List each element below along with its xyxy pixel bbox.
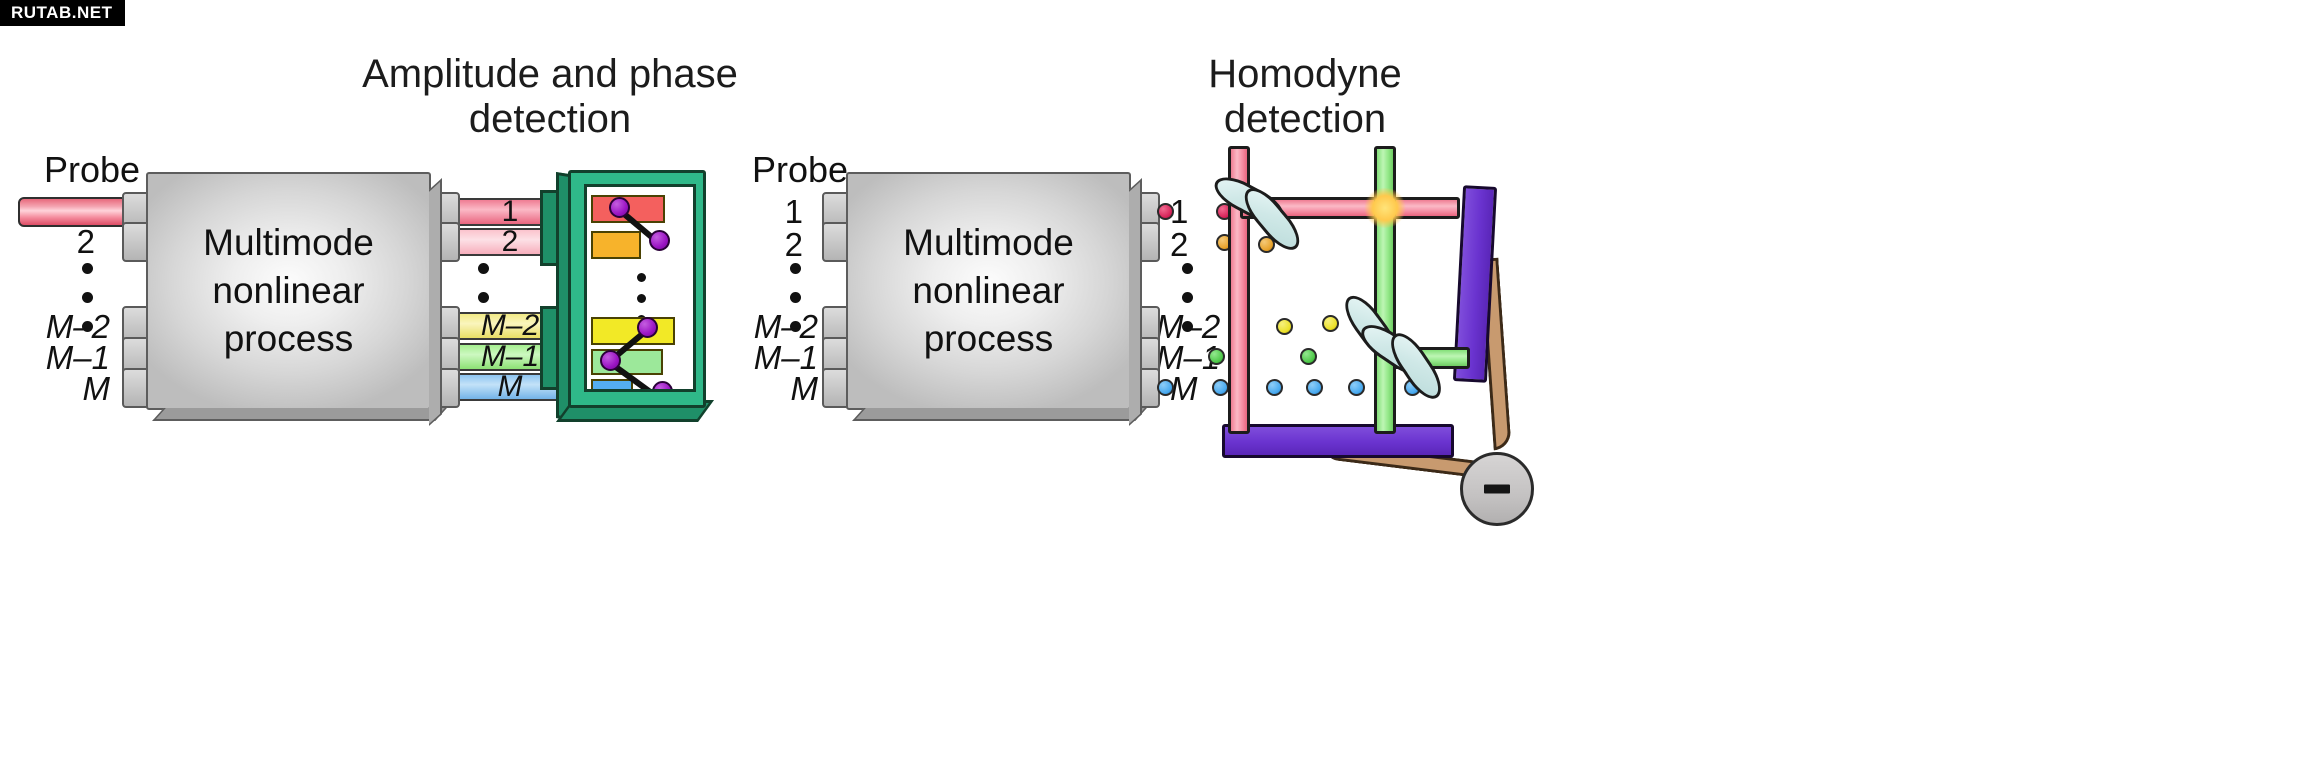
panel-title-amplitude-phase: Amplitude and phase detection: [330, 52, 770, 142]
process-box-right-shadow-bottom: [852, 408, 1147, 421]
right-input-mode-label-1: 1: [748, 195, 803, 228]
mode-dot-M-c: [1306, 379, 1323, 396]
watermark: RUTAB.NET: [0, 0, 125, 26]
subtractor-node[interactable]: [1460, 452, 1534, 526]
port-dot-mode-M: [1157, 379, 1174, 396]
probe-label-right: Probe: [752, 152, 848, 188]
input-mode-label-M: M: [10, 372, 110, 405]
output-waveguide-1-label: 1: [502, 197, 519, 227]
process-box-right-text: Multimode nonlinear process: [848, 219, 1129, 363]
detector-slab-bottom: [1222, 424, 1454, 458]
detector-bar-mode-M: [591, 379, 633, 392]
input-mode-label-2: 2: [40, 225, 95, 258]
output-waveguide-M-2-label: M–2: [481, 311, 539, 341]
probe-label-left: Probe: [44, 152, 140, 188]
detector-screen: [584, 184, 696, 392]
beam-crossing-highlight: [1364, 188, 1406, 228]
port-dot-mode-1: [1157, 203, 1174, 220]
right-input-mode-label-M: M: [718, 372, 818, 405]
amplitude-phase-detector[interactable]: [540, 168, 710, 426]
process-box-left-shadow-bottom: [152, 408, 447, 421]
mode-dot-M-1-b: [1300, 348, 1317, 365]
detector-bar-mode-2: [591, 231, 641, 259]
process-box-left: Multimode nonlinear process: [146, 172, 431, 410]
output-waveguide-M-label: M: [498, 372, 523, 402]
detector-marker-1: [609, 197, 630, 218]
right-output-mode-label-1: 1: [1170, 195, 1210, 228]
right-output-mode-label-2: 2: [1170, 228, 1210, 261]
detector-marker-M-1: [600, 350, 621, 371]
detector-marker-M: [652, 381, 673, 392]
mode-dot-M-1-a: [1208, 348, 1225, 365]
detector-marker-2: [649, 230, 670, 251]
process-box-right: Multimode nonlinear process: [846, 172, 1131, 410]
panel-title-homodyne: Homodyne detection: [1105, 52, 1505, 142]
output-waveguide-M-1-label: M–1: [481, 342, 539, 372]
mode-dot-M-2-a: [1276, 318, 1293, 335]
right-input-mode-label-2: 2: [748, 228, 803, 261]
process-box-left-text: Multimode nonlinear process: [148, 219, 429, 363]
figure-root: RUTAB.NET Amplitude and phase detection …: [0, 0, 2320, 775]
output-waveguide-2-label: 2: [502, 227, 519, 257]
mode-dot-M-d: [1348, 379, 1365, 396]
mode-dot-M-b: [1266, 379, 1283, 396]
detector-marker-M-2: [637, 317, 658, 338]
mode-dot-M-a: [1212, 379, 1229, 396]
minus-icon: [1484, 485, 1510, 494]
process-box-left-shadow-right: [429, 178, 442, 426]
process-box-right-shadow-right: [1129, 178, 1142, 426]
mode-dot-M-2-b: [1322, 315, 1339, 332]
